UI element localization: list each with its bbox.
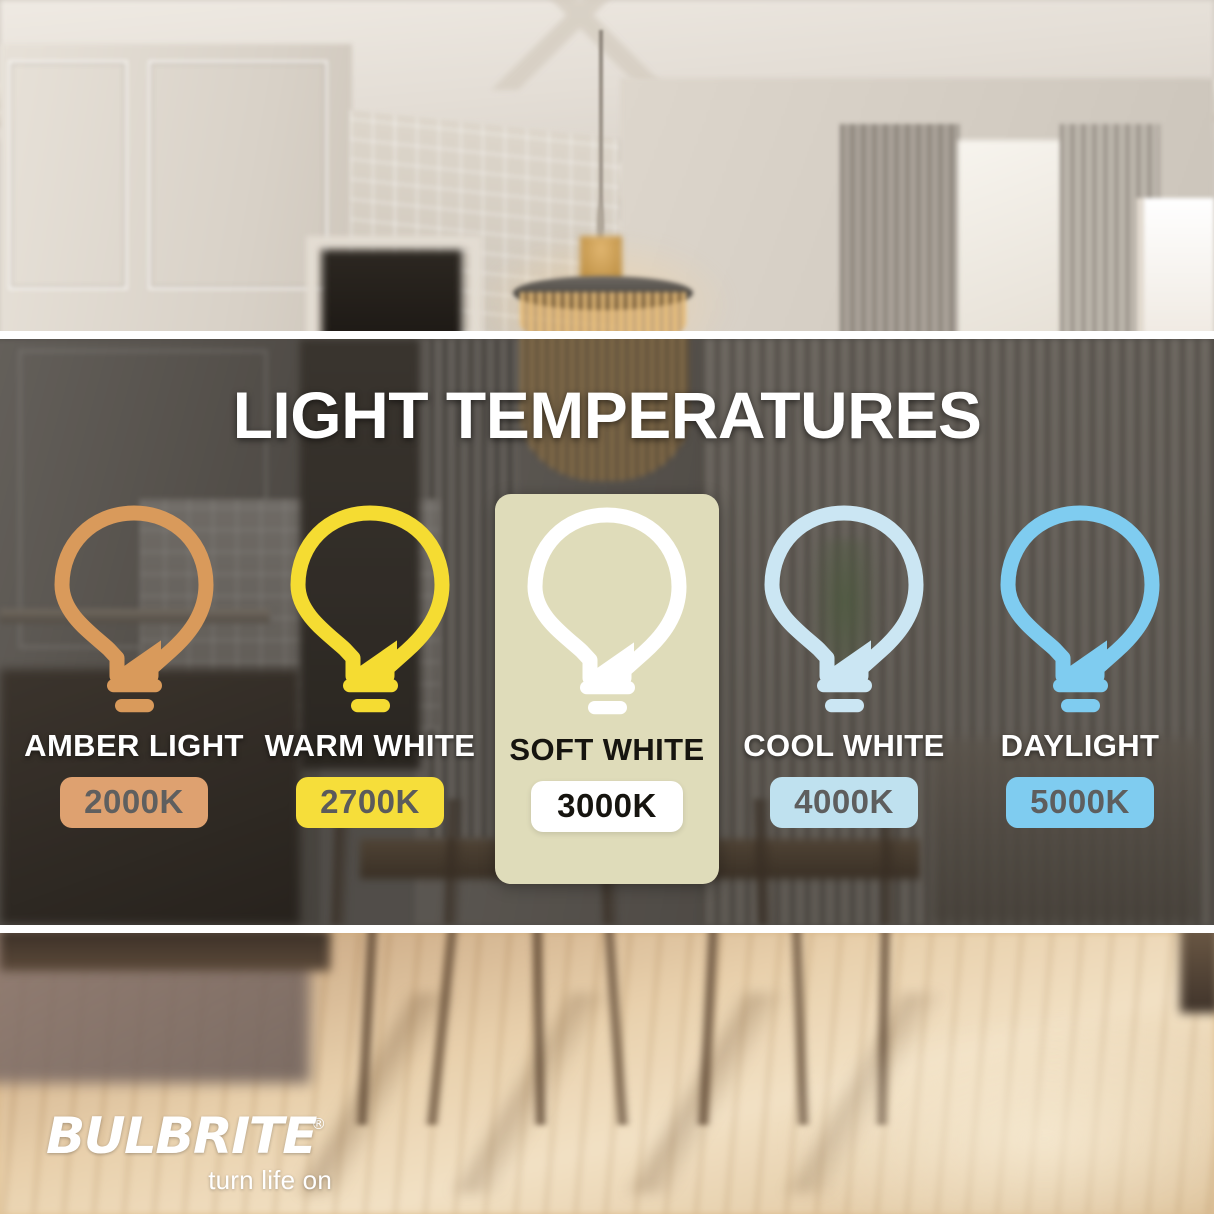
lightbulb-icon-svg [519,504,695,718]
page-title: LIGHT TEMPERATURES [0,382,1214,448]
logo-wordmark-row: BULBRITE ® [46,1112,376,1160]
temperature-label: AMBER LIGHT [24,730,244,761]
divider-top [0,331,1214,339]
temperature-label: SOFT WHITE [509,734,704,765]
lightbulb-icon [495,494,719,728]
temperature-card-daylight[interactable]: DAYLIGHT 5000K [962,494,1198,884]
lightbulb-icon-svg [282,502,458,716]
window-glass [958,140,1064,331]
promo-graphic: LIGHT TEMPERATURES [0,0,1214,1214]
kelvin-badge: 2700K [296,777,444,828]
chandelier-crystals [520,292,686,331]
logo-tagline: turn life on [46,1165,332,1196]
temperature-card-soft-white[interactable]: SOFT WHITE 3000K [495,494,719,884]
lightbulb-icon [962,494,1198,724]
ceiling-medallion [430,0,730,90]
temperature-label: WARM WHITE [265,730,476,761]
temperature-card-list: AMBER LIGHT 2000K [0,494,1214,914]
kelvin-badge: 4000K [770,777,918,828]
light-temperature-chart: LIGHT TEMPERATURES [0,339,1214,925]
kelvin-badge: 5000K [1006,777,1154,828]
logo-wordmark: BULBRITE [46,1112,316,1160]
cart [1180,933,1214,1013]
temperature-card-warm-white[interactable]: WARM WHITE 2700K [252,494,488,884]
lightbulb-icon [252,494,488,724]
kelvin-badge: 3000K [531,781,683,832]
lightbulb-icon-svg [992,502,1168,716]
kelvin-badge: 2000K [60,777,208,828]
lightbulb-icon [16,494,252,724]
doorway [322,250,462,331]
lightbulb-icon [726,494,962,724]
brand-logo: BULBRITE ® turn life on [46,1112,376,1196]
wall-panel [148,60,328,290]
divider-bottom [0,925,1214,933]
chandelier-top [580,236,622,280]
lightbulb-icon-svg [756,502,932,716]
temperature-card-cool-white[interactable]: COOL WHITE 4000K [726,494,962,884]
interior-photo-top [0,0,1214,331]
temperature-label: DAYLIGHT [1001,730,1160,761]
curtain [840,124,960,331]
wall-panel [8,60,128,290]
temperature-card-amber-light[interactable]: AMBER LIGHT 2000K [16,494,252,884]
light-hotspot [780,1013,1214,1214]
baseboard-shadow [0,933,330,971]
temperature-label: COOL WHITE [743,730,944,761]
window-frame [1136,198,1214,331]
lightbulb-icon-svg [46,502,222,716]
